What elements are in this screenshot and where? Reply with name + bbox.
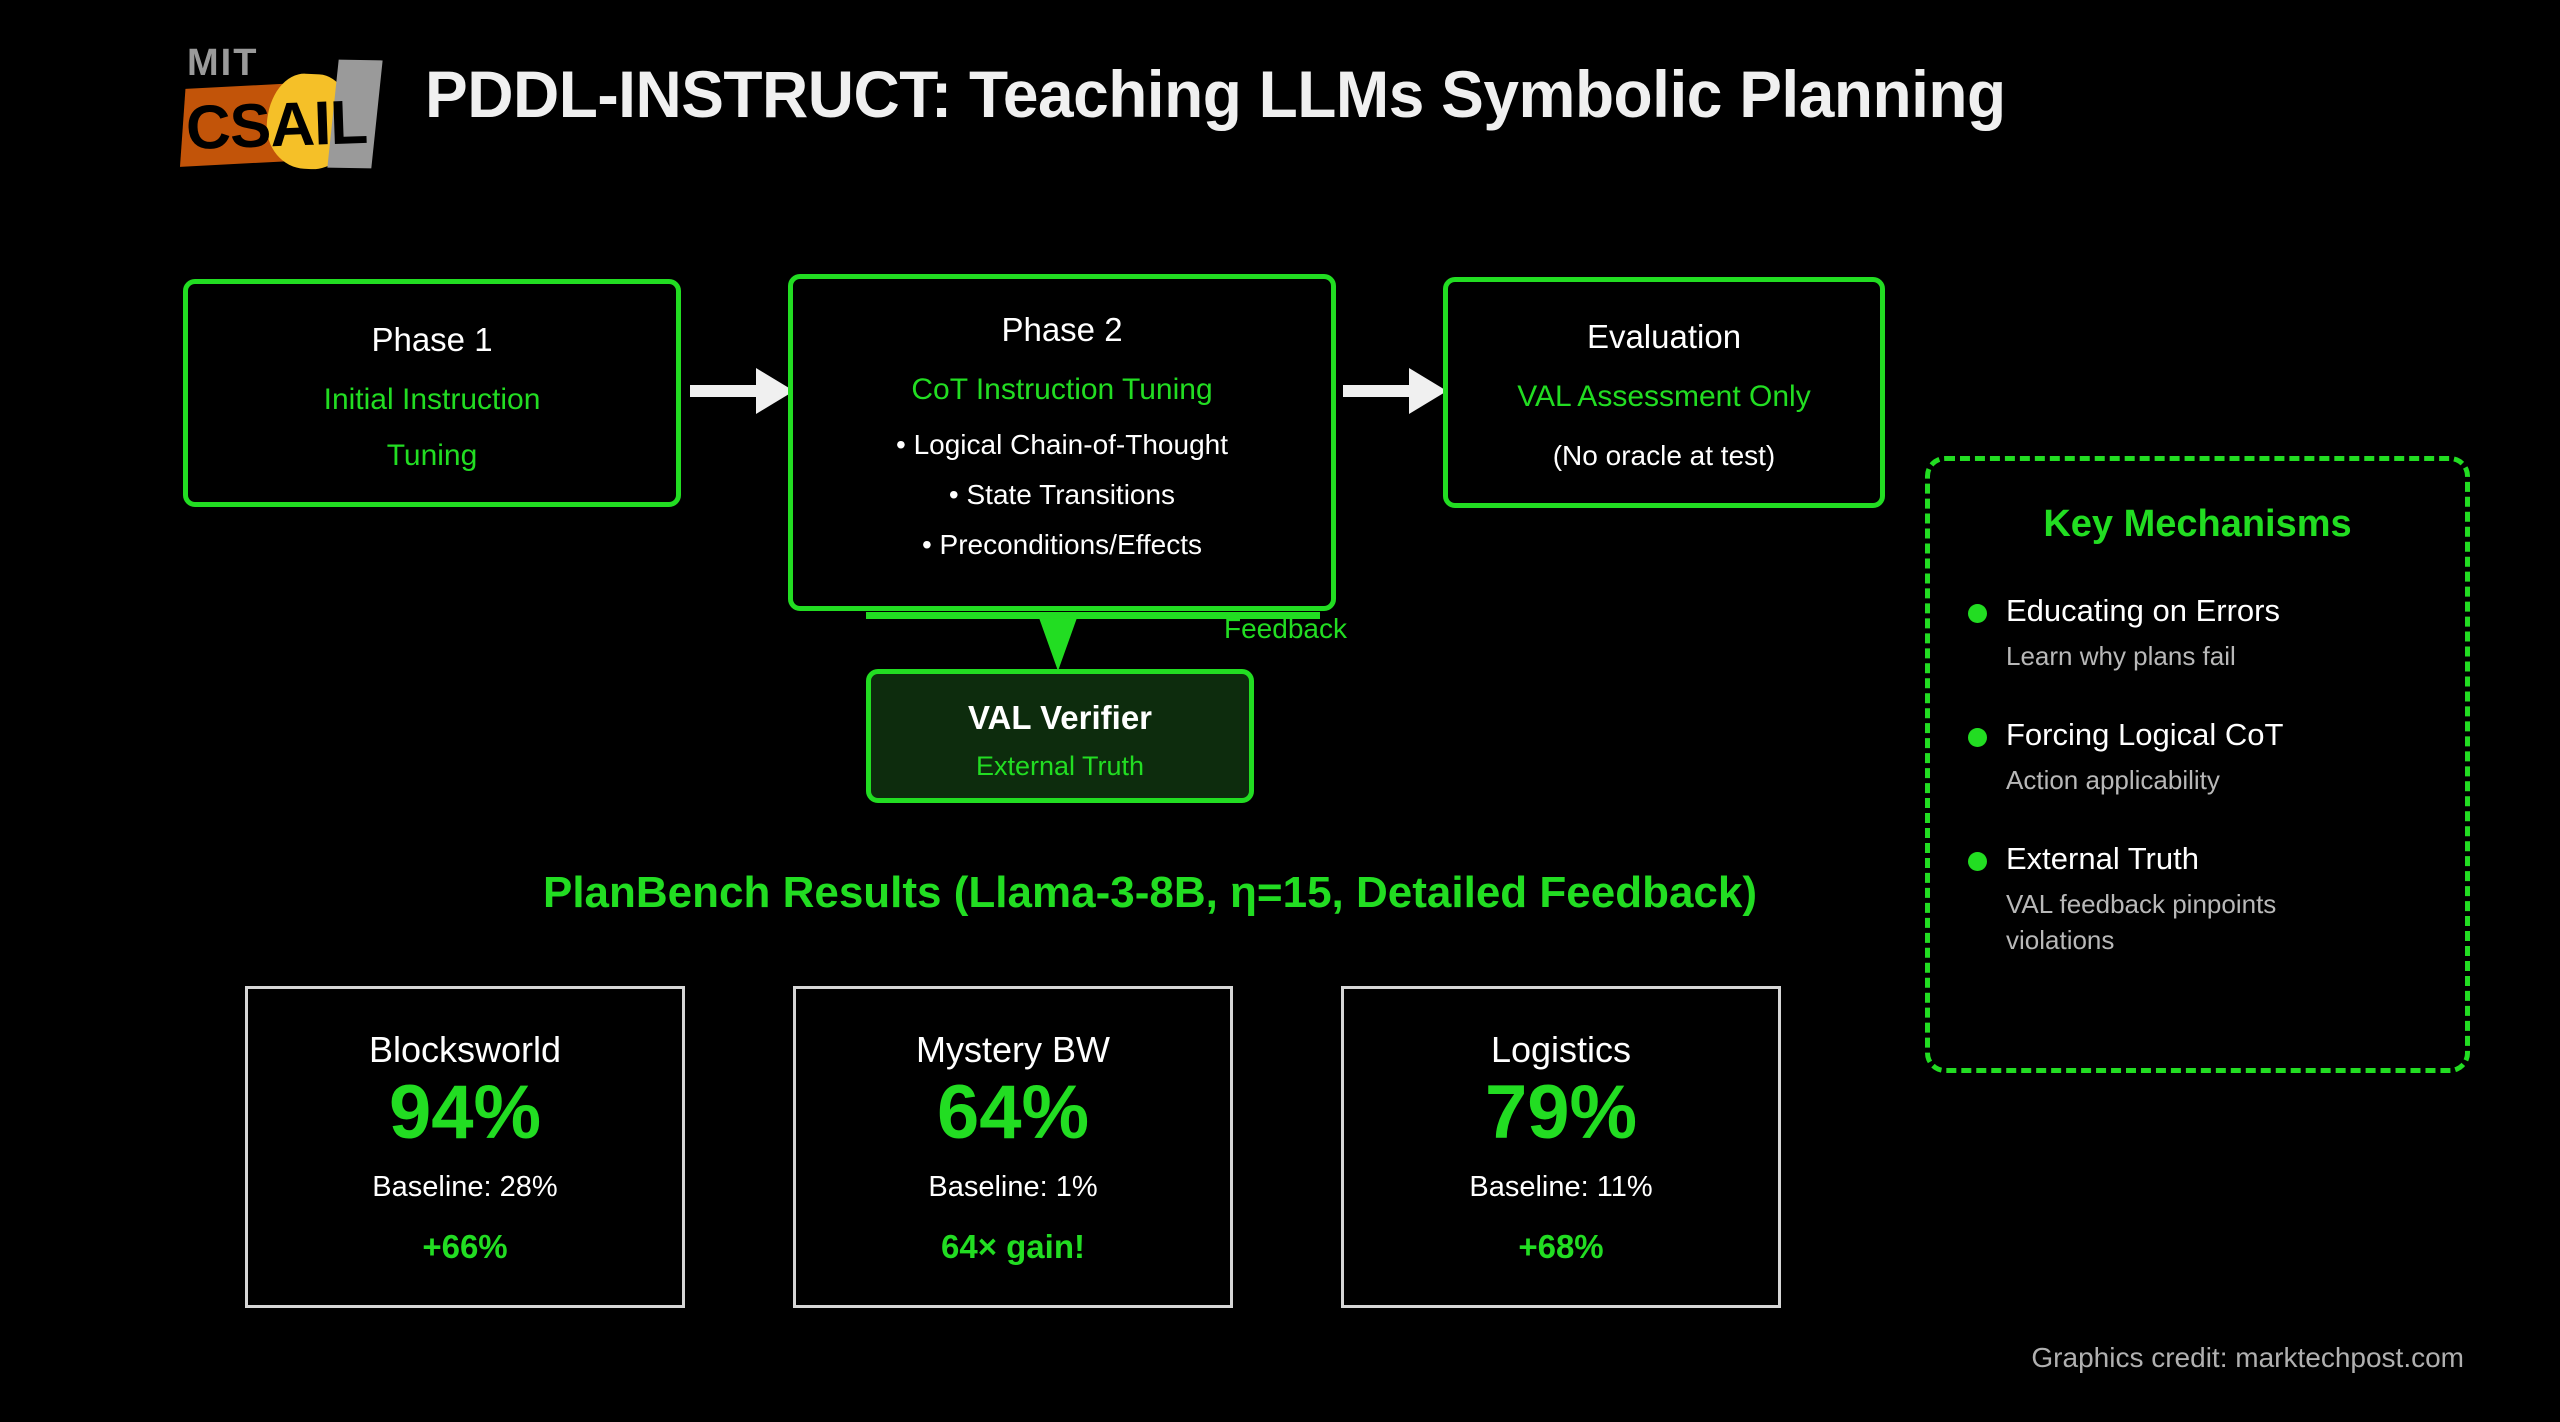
mit-csail-logo: MIT CSAIL [183,42,383,164]
mechanism-heading: Forcing Logical CoT [2006,716,2465,755]
arrow-shaft [690,385,760,397]
arrow-head-icon [1409,368,1447,414]
phase2-bullet-1: • Logical Chain-of-Thought [793,429,1331,461]
mechanism-heading: Educating on Errors [2006,592,2465,631]
result-card-value: 94% [248,1073,682,1153]
result-card-baseline: Baseline: 1% [796,1171,1230,1204]
evaluation-note: (No oracle at test) [1448,440,1880,472]
result-card-value: 64% [796,1073,1230,1153]
phase1-subtitle-line1: Initial Instruction [188,383,676,417]
result-card-name: Mystery BW [796,1029,1230,1071]
phase2-title: Phase 2 [793,311,1331,349]
phase1-title: Phase 1 [188,321,676,359]
mechanism-description: Learn why plans fail [2006,638,2336,674]
feedback-arrow-head-icon [1038,615,1078,671]
phase2-subtitle: CoT Instruction Tuning [793,373,1331,407]
evaluation-subtitle: VAL Assessment Only [1448,380,1880,414]
phase1-subtitle-line2: Tuning [188,439,676,473]
bullet-dot-icon [1968,852,1987,871]
list-item: External Truth VAL feedback pinpoints vi… [1968,840,2465,959]
bullet-dot-icon [1968,728,1987,747]
evaluation-title: Evaluation [1448,318,1880,356]
key-mechanisms-panel: Key Mechanisms Educating on Errors Learn… [1925,456,2470,1073]
flow-box-evaluation: Evaluation VAL Assessment Only (No oracl… [1443,277,1885,508]
list-item: Educating on Errors Learn why plans fail [1968,592,2465,674]
page-header: MIT CSAIL PDDL-INSTRUCT: Teaching LLMs S… [0,0,2560,195]
feedback-label: Feedback [1224,613,1347,645]
key-mechanisms-list: Educating on Errors Learn why plans fail… [1930,592,2465,959]
result-card-name: Blocksworld [248,1029,682,1071]
phase2-bullet-2: • State Transitions [793,479,1331,511]
key-mechanisms-title: Key Mechanisms [1930,503,2465,546]
result-card-gain: 64× gain! [796,1228,1230,1266]
logo-csail-text: CSAIL [185,87,368,164]
flow-box-phase2: Phase 2 CoT Instruction Tuning • Logical… [788,274,1336,611]
result-card-baseline: Baseline: 11% [1344,1171,1778,1204]
arrow-shaft [1343,385,1413,397]
flow-box-val-verifier: VAL Verifier External Truth [866,669,1254,803]
mechanism-description: Action applicability [2006,762,2336,798]
result-card-logistics: Logistics 79% Baseline: 11% +68% [1341,986,1781,1308]
result-card-name: Logistics [1344,1029,1778,1071]
result-card-value: 79% [1344,1073,1778,1153]
val-verifier-subtitle: External Truth [871,751,1249,782]
result-card-mystery-bw: Mystery BW 64% Baseline: 1% 64× gain! [793,986,1233,1308]
result-card-gain: +66% [248,1228,682,1266]
page-title: PDDL-INSTRUCT: Teaching LLMs Symbolic Pl… [425,56,2006,132]
graphics-credit: Graphics credit: marktechpost.com [2031,1342,2464,1374]
arrow-phase1-to-phase2 [690,385,795,397]
logo-mit-text: MIT [187,42,258,85]
mechanism-description: VAL feedback pinpoints violations [2006,886,2336,959]
phase2-bullet-3: • Preconditions/Effects [793,529,1331,561]
arrow-phase2-to-evaluation [1343,385,1448,397]
result-card-gain: +68% [1344,1228,1778,1266]
result-card-blocksworld: Blocksworld 94% Baseline: 28% +66% [245,986,685,1308]
results-heading: PlanBench Results (Llama-3-8B, η=15, Det… [470,868,1830,918]
bullet-dot-icon [1968,604,1987,623]
val-verifier-title: VAL Verifier [871,699,1249,737]
flow-box-phase1: Phase 1 Initial Instruction Tuning [183,279,681,507]
list-item: Forcing Logical CoT Action applicability [1968,716,2465,798]
mechanism-heading: External Truth [2006,840,2465,879]
result-card-baseline: Baseline: 28% [248,1171,682,1204]
